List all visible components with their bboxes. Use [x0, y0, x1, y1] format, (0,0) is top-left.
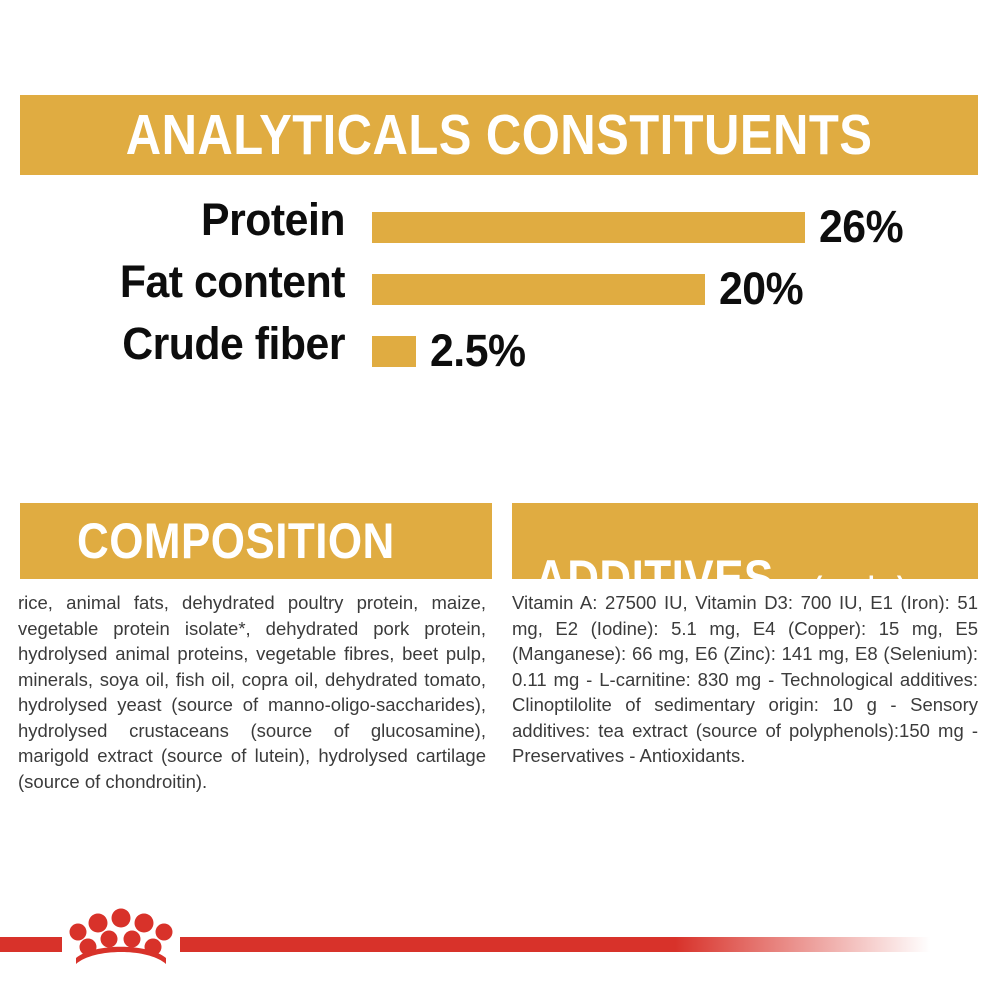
bar-track-protein: 26% — [372, 196, 908, 258]
analyticals-constituents-title: ANALYTICALS CONSTITUENTS — [126, 106, 873, 164]
additives-subtitle-per-kg: (per kg) — [814, 572, 905, 579]
bar-label-fat-content: Fat content — [32, 258, 346, 306]
royal-canin-footer — [0, 896, 1000, 1000]
analyticals-constituents-banner: ANALYTICALS CONSTITUENTS — [20, 95, 978, 175]
bar-row-fat-content: Fat content 20% — [0, 258, 1000, 320]
bar-fill-protein — [372, 212, 805, 243]
footer-rule-left — [0, 937, 62, 952]
bar-label-crude-fiber: Crude fiber — [32, 320, 346, 368]
bar-track-fat-content: 20% — [372, 258, 808, 320]
royal-canin-crown-logo — [66, 904, 176, 966]
bar-value-protein: 26% — [819, 203, 903, 251]
additives-title: ADDITIVES — [535, 553, 774, 579]
bar-value-crude-fiber: 2.5% — [430, 327, 526, 375]
additives-banner: ADDITIVES (per kg) — [512, 503, 978, 579]
bar-track-crude-fiber: 2.5% — [372, 320, 531, 382]
nutrition-panel: ANALYTICALS CONSTITUENTS Protein 26% Fat… — [0, 0, 1000, 1000]
bar-row-protein: Protein 26% — [0, 196, 1000, 258]
additives-title-row: ADDITIVES (per kg) — [535, 553, 913, 579]
bar-fill-crude-fiber — [372, 336, 416, 367]
bar-label-protein: Protein — [32, 196, 346, 244]
composition-banner: COMPOSITION — [20, 503, 492, 579]
bar-value-fat-content: 20% — [719, 265, 803, 313]
bar-fill-fat-content — [372, 274, 705, 305]
composition-title: COMPOSITION — [77, 516, 395, 567]
bar-row-crude-fiber: Crude fiber 2.5% — [0, 320, 1000, 382]
additives-text: Vitamin A: 27500 IU, Vitamin D3: 700 IU,… — [512, 590, 978, 769]
composition-text: rice, animal fats, dehydrated poultry pr… — [18, 590, 486, 794]
footer-rule-right — [180, 937, 930, 952]
analyticals-bar-chart: Protein 26% Fat content 20% Crude fiber … — [0, 196, 1000, 386]
